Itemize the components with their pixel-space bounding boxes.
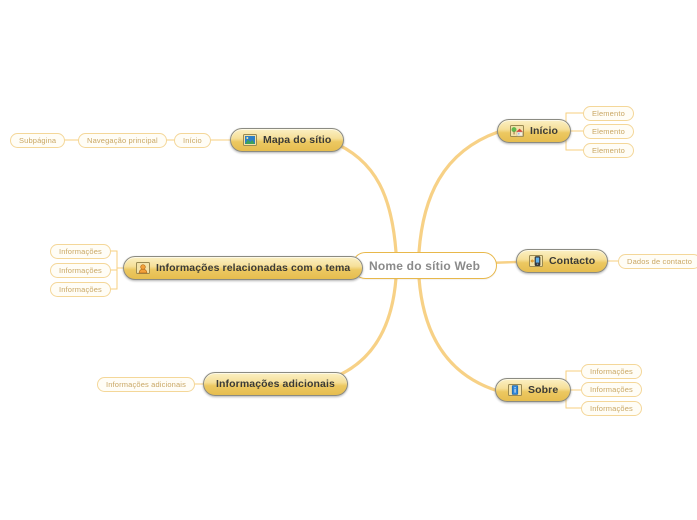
branch-label-inicio: Início [530, 125, 558, 137]
root-node-label: Nome do sítio Web [369, 259, 480, 273]
root-node[interactable]: Nome do sítio Web [352, 252, 497, 279]
leaf-node-subpagina[interactable]: Subpágina [10, 133, 65, 148]
leaf-label: Subpágina [19, 136, 56, 145]
leaf-node-tema-informacoes-2[interactable]: Informações [50, 263, 111, 278]
leaf-node-elemento-1[interactable]: Elemento [583, 106, 634, 121]
branch-node-informacoes-relacionadas[interactable]: Informações relacionadas com o tema [123, 256, 363, 280]
leaf-node-tema-informacoes-1[interactable]: Informações [50, 244, 111, 259]
home-icon [510, 124, 524, 138]
leaf-node-navegacao-principal[interactable]: Navegação principal [78, 133, 167, 148]
edge-root-mapa-do-sitio [330, 141, 396, 252]
branch-node-informacoes-adicionais[interactable]: Informações adicionais [203, 372, 348, 396]
leaf-label: Informações adicionais [106, 380, 186, 389]
leaf-node-dados-de-contacto[interactable]: Dados de contacto [618, 254, 697, 269]
leaf-label: Informações [59, 285, 102, 294]
branch-label-informacoes-adicionais: Informações adicionais [216, 378, 335, 390]
leaf-node-elemento-3[interactable]: Elemento [583, 143, 634, 158]
leaf-label: Início [183, 136, 202, 145]
leaf-node-informacoes-adicionais[interactable]: Informações adicionais [97, 377, 195, 392]
edge-root-inicio [419, 132, 498, 252]
user-icon [136, 261, 150, 275]
leaf-node-sobre-informacoes-1[interactable]: Informações [581, 364, 642, 379]
edge-root-sobre [419, 278, 498, 391]
leaf-node-sobre-informacoes-2[interactable]: Informações [581, 382, 642, 397]
leaf-node-mapa-inicio[interactable]: Início [174, 133, 211, 148]
phone-icon [529, 254, 543, 268]
edge-root-informacoes-adicionais [312, 278, 396, 384]
branch-node-sobre[interactable]: Sobre [495, 378, 571, 402]
leaf-label: Informações [590, 367, 633, 376]
leaf-label: Informações [590, 404, 633, 413]
leaf-label: Informações [590, 385, 633, 394]
info-icon [508, 383, 522, 397]
leaf-node-elemento-2[interactable]: Elemento [583, 124, 634, 139]
branch-label-informacoes-relacionadas: Informações relacionadas com o tema [156, 262, 350, 274]
leaf-label: Elemento [592, 127, 625, 136]
branch-label-sobre: Sobre [528, 384, 558, 396]
branch-node-contacto[interactable]: Contacto [516, 249, 608, 273]
branch-label-contacto: Contacto [549, 255, 595, 267]
mind-map-canvas: Nome do sítio Web Mapa do sítio Início N… [0, 0, 697, 520]
branch-node-mapa-do-sitio[interactable]: Mapa do sítio [230, 128, 344, 152]
leaf-label: Elemento [592, 109, 625, 118]
image-icon [243, 133, 257, 147]
leaf-node-tema-informacoes-3[interactable]: Informações [50, 282, 111, 297]
leaf-label: Informações [59, 266, 102, 275]
branch-label-mapa-do-sitio: Mapa do sítio [263, 134, 331, 146]
leaf-label: Dados de contacto [627, 257, 692, 266]
leaf-label: Navegação principal [87, 136, 158, 145]
leaf-node-sobre-informacoes-3[interactable]: Informações [581, 401, 642, 416]
branch-node-inicio[interactable]: Início [497, 119, 571, 143]
leaf-label: Informações [59, 247, 102, 256]
leaf-label: Elemento [592, 146, 625, 155]
